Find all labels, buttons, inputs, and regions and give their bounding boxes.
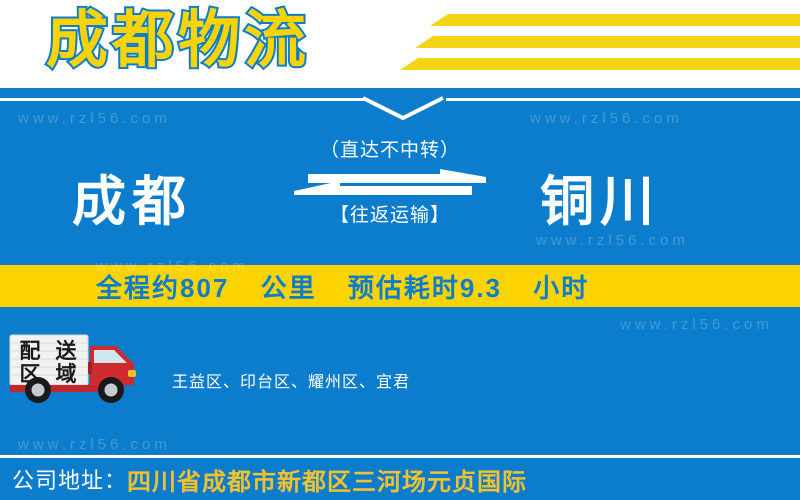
- delivery-areas: 王益区、印台区、耀州区、宜君: [172, 368, 410, 392]
- duration-value: 预估耗时9.3: [348, 273, 502, 303]
- truck-badge-char-0: 配: [20, 339, 41, 363]
- truck-badge-char-3: 域: [56, 362, 77, 386]
- distance-value: 全程约807: [96, 273, 229, 303]
- info-band-text: 全程约807 公里 预估耗时9.3 小时: [0, 268, 589, 305]
- divider-line-right: [446, 98, 800, 101]
- destination-city: 铜川: [540, 175, 660, 229]
- bidirectional-arrow-icon: [280, 167, 500, 203]
- company-address-bar: 公司地址： 四川省成都市新都区三河场元贞国际: [0, 458, 800, 500]
- direct-tag: （直达不中转）: [280, 140, 500, 163]
- stripe-2: [415, 36, 800, 48]
- delivery-truck-icon: 配 送 区 域: [6, 332, 156, 404]
- chevron-divider: [0, 98, 800, 124]
- watermark-3: www.rzl56.com: [620, 316, 773, 333]
- logistics-poster: 成都物流 成都 （直达不中转） 【往返运输】 铜川 全程约807 公里: [0, 0, 800, 500]
- info-band: 全程约807 公里 预估耗时9.3 小时: [0, 265, 800, 307]
- divider-line-left: [0, 98, 366, 101]
- stripe-3: [400, 58, 800, 70]
- route-middle: （直达不中转） 【往返运输】: [280, 140, 500, 228]
- duration-unit: 小时: [533, 273, 589, 303]
- page-title: 成都物流: [46, 4, 310, 78]
- watermark-2: www.rzl56.com: [536, 232, 689, 249]
- chevron-down-icon: [360, 96, 446, 122]
- decorative-stripes: [380, 14, 800, 76]
- origin-city: 成都: [72, 175, 192, 229]
- poster-header: 成都物流: [0, 0, 800, 88]
- address-label: 公司地址：: [12, 463, 127, 495]
- distance-unit: 公里: [261, 273, 317, 303]
- stripe-1: [430, 14, 800, 26]
- address-value: 四川省成都市新都区三河场元贞国际: [127, 462, 527, 497]
- truck-badge-char-1: 送: [56, 339, 78, 363]
- truck-badge-char-2: 区: [20, 362, 41, 386]
- roundtrip-tag: 【往返运输】: [280, 205, 500, 228]
- watermark-4: www.rzl56.com: [18, 436, 171, 453]
